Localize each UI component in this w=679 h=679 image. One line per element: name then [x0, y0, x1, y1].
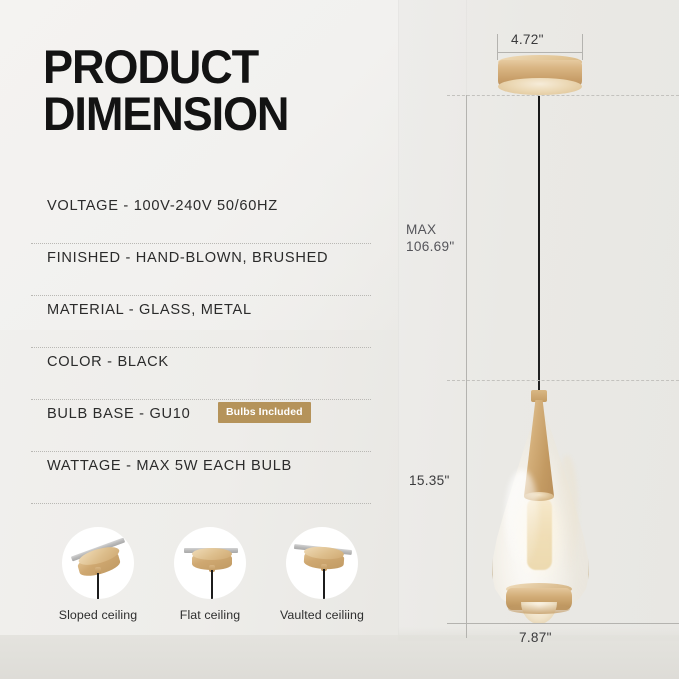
- vaulted-ceiling-icon: [286, 527, 358, 599]
- background-right-panel: [398, 0, 679, 640]
- spec-label-voltage: VOLTAGE - 100V-240V 50/60HZ: [47, 198, 278, 214]
- dim-line-shade-width: [447, 623, 679, 624]
- dim-tick-canopy-left: [497, 34, 498, 60]
- ceiling-option-sloped: Sloped ceiling: [44, 527, 152, 622]
- background-floor: [0, 635, 679, 679]
- spec-label-material: MATERIAL - GLASS, METAL: [47, 302, 252, 318]
- specification-list: VOLTAGE - 100V-240V 50/60HZ FINISHED - H…: [31, 193, 371, 505]
- dim-tick-shade-width-left: [466, 608, 467, 638]
- ceiling-option-label-flat: Flat ceiling: [156, 608, 264, 622]
- dim-label-max-value: 106.69": [406, 238, 455, 255]
- flat-ceiling-icon: [174, 527, 246, 599]
- dim-line-shade-height: [466, 380, 467, 623]
- status-badge-bulbs-included: Bulbs Included: [218, 402, 311, 423]
- ceiling-option-flat: Flat ceiling: [156, 527, 264, 622]
- canopy-top: [192, 548, 232, 560]
- sloped-ceiling-icon: [62, 527, 134, 599]
- spec-row-finished: FINISHED - HAND-BLOWN, BRUSHED: [31, 245, 371, 297]
- ceiling-option-label-sloped: Sloped ceiling: [44, 608, 152, 622]
- dim-label-canopy-width: 4.72": [511, 32, 544, 47]
- page-title-line-1: PRODUCT: [43, 40, 258, 93]
- ceiling-option-vaulted: Vaulted ceiliing: [268, 527, 376, 622]
- dim-extension-line-top: [447, 95, 679, 96]
- dim-label-shade-width: 7.87": [519, 630, 552, 645]
- cord: [323, 569, 325, 599]
- spec-divider: [31, 503, 371, 505]
- dim-label-shade-height: 15.35": [409, 473, 450, 488]
- ceiling-option-label-vaulted: Vaulted ceiliing: [268, 608, 376, 622]
- cord: [211, 570, 213, 599]
- spec-label-wattage: WATTAGE - MAX 5W EACH BULB: [47, 458, 292, 474]
- dim-label-max-prefix: MAX: [406, 221, 455, 238]
- spec-row-color: COLOR - BLACK: [31, 349, 371, 401]
- dim-line-max-height: [466, 95, 467, 380]
- spec-label-bulb-base: BULB BASE - GU10: [47, 406, 190, 422]
- spec-row-wattage: WATTAGE - MAX 5W EACH BULB: [31, 453, 371, 505]
- page-title: PRODUCT DIMENSION: [43, 44, 408, 137]
- dim-label-max-height: MAX 106.69": [406, 221, 455, 255]
- spec-row-material: MATERIAL - GLASS, METAL: [31, 297, 371, 349]
- page-title-line-2: DIMENSION: [43, 91, 408, 138]
- product-dimension-infographic: PRODUCT DIMENSION VOLTAGE - 100V-240V 50…: [0, 0, 679, 679]
- spec-row-bulb-base: BULB BASE - GU10 Bulbs Included: [31, 401, 371, 453]
- cord: [97, 573, 99, 599]
- dim-extension-line-mid: [447, 380, 679, 381]
- spec-label-finished: FINISHED - HAND-BLOWN, BRUSHED: [47, 250, 328, 266]
- spec-label-color: COLOR - BLACK: [47, 354, 169, 370]
- dim-tick-canopy-right: [582, 34, 583, 60]
- spec-row-voltage: VOLTAGE - 100V-240V 50/60HZ: [31, 193, 371, 245]
- ceiling-compatibility-group: Sloped ceiling Flat ceiling Vaulted ceil…: [44, 527, 384, 639]
- dim-line-canopy-width: [497, 52, 583, 53]
